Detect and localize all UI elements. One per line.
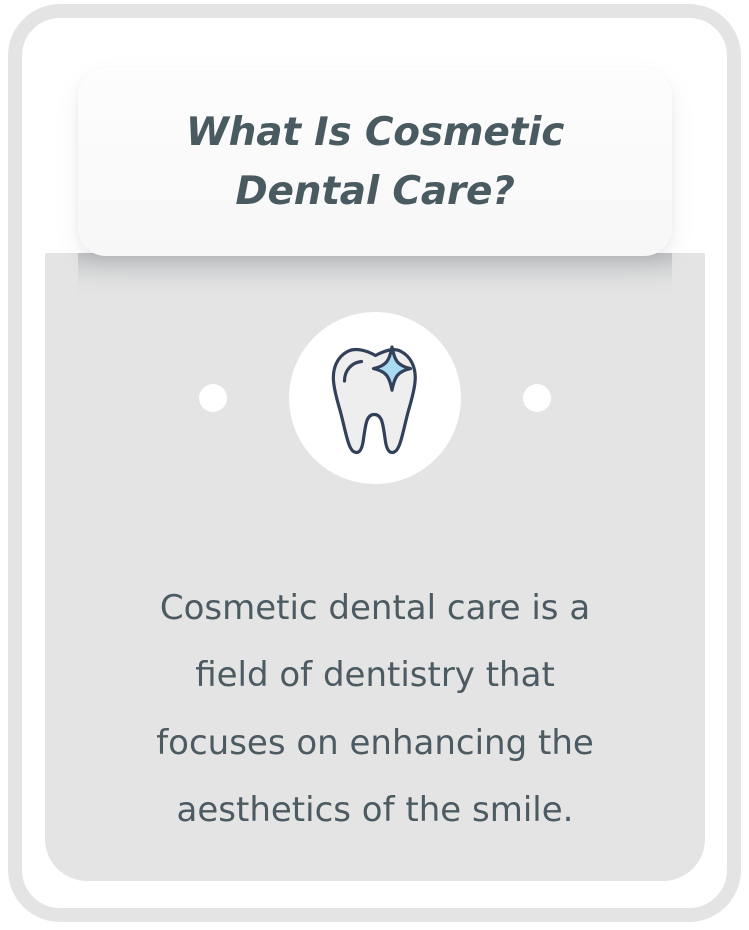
card-title: What Is Cosmetic Dental Care? <box>186 103 564 222</box>
icon-circle-badge <box>289 312 461 484</box>
title-card-dropshadow <box>78 253 672 299</box>
dot-right-icon <box>523 384 551 412</box>
title-card: What Is Cosmetic Dental Care? <box>78 68 672 256</box>
infographic-card-root: Cosmetic dental care is a field of denti… <box>0 0 749 930</box>
tooth-sparkle-icon <box>322 338 428 458</box>
card-body-text: Cosmetic dental care is a field of denti… <box>75 575 675 844</box>
icon-row <box>45 308 705 488</box>
content-panel: Cosmetic dental care is a field of denti… <box>45 253 705 881</box>
dot-left-icon <box>199 384 227 412</box>
